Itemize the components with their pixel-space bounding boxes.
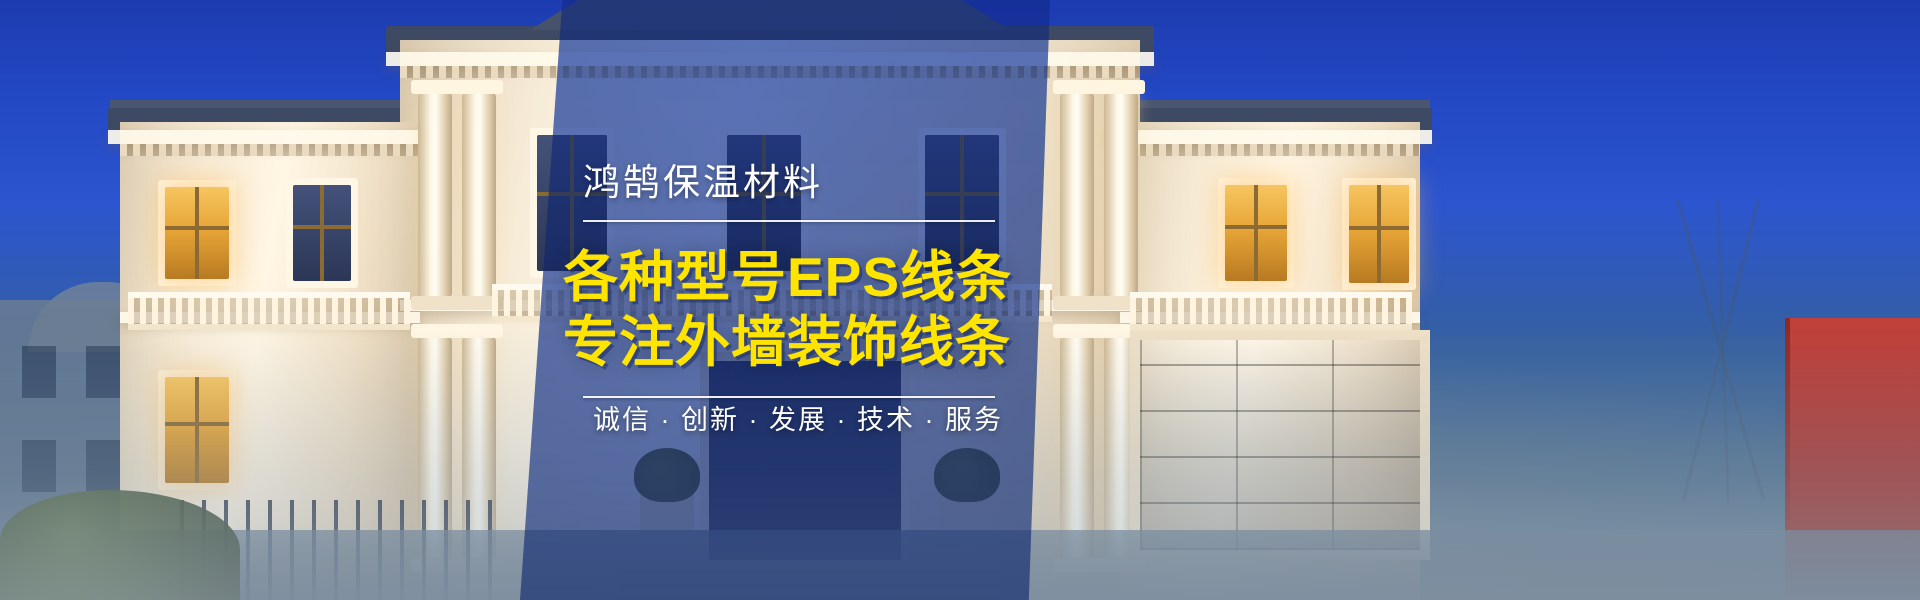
column [1060,92,1094,298]
dark-window [293,185,351,281]
column [462,92,496,298]
tagline: 诚信 · 创新 · 发展 · 技术 · 服务 [593,398,1025,437]
cornice-left [108,130,432,144]
headline-line-1: 各种型号EPS线条 [563,248,1025,307]
promo-banner: 鸿鹄保温材料 各种型号EPS线条 专注外墙装饰线条 诚信 · 创新 · 发展 ·… [0,0,1920,600]
divider-top [583,220,995,222]
banner-text-block: 鸿鹄保温材料 各种型号EPS线条 专注外墙装饰线条 诚信 · 创新 · 发展 ·… [555,0,1025,600]
lit-window [165,187,229,279]
lit-window [1225,185,1287,281]
dentils-left [120,144,420,156]
cornice-right [1108,130,1432,144]
headline-line-2: 专注外墙装饰线条 [563,313,1025,372]
dentils-right [1120,144,1420,156]
brand-name: 鸿鹄保温材料 [583,163,1025,204]
column [1104,92,1138,298]
lit-window [1349,185,1409,283]
column [418,92,452,298]
